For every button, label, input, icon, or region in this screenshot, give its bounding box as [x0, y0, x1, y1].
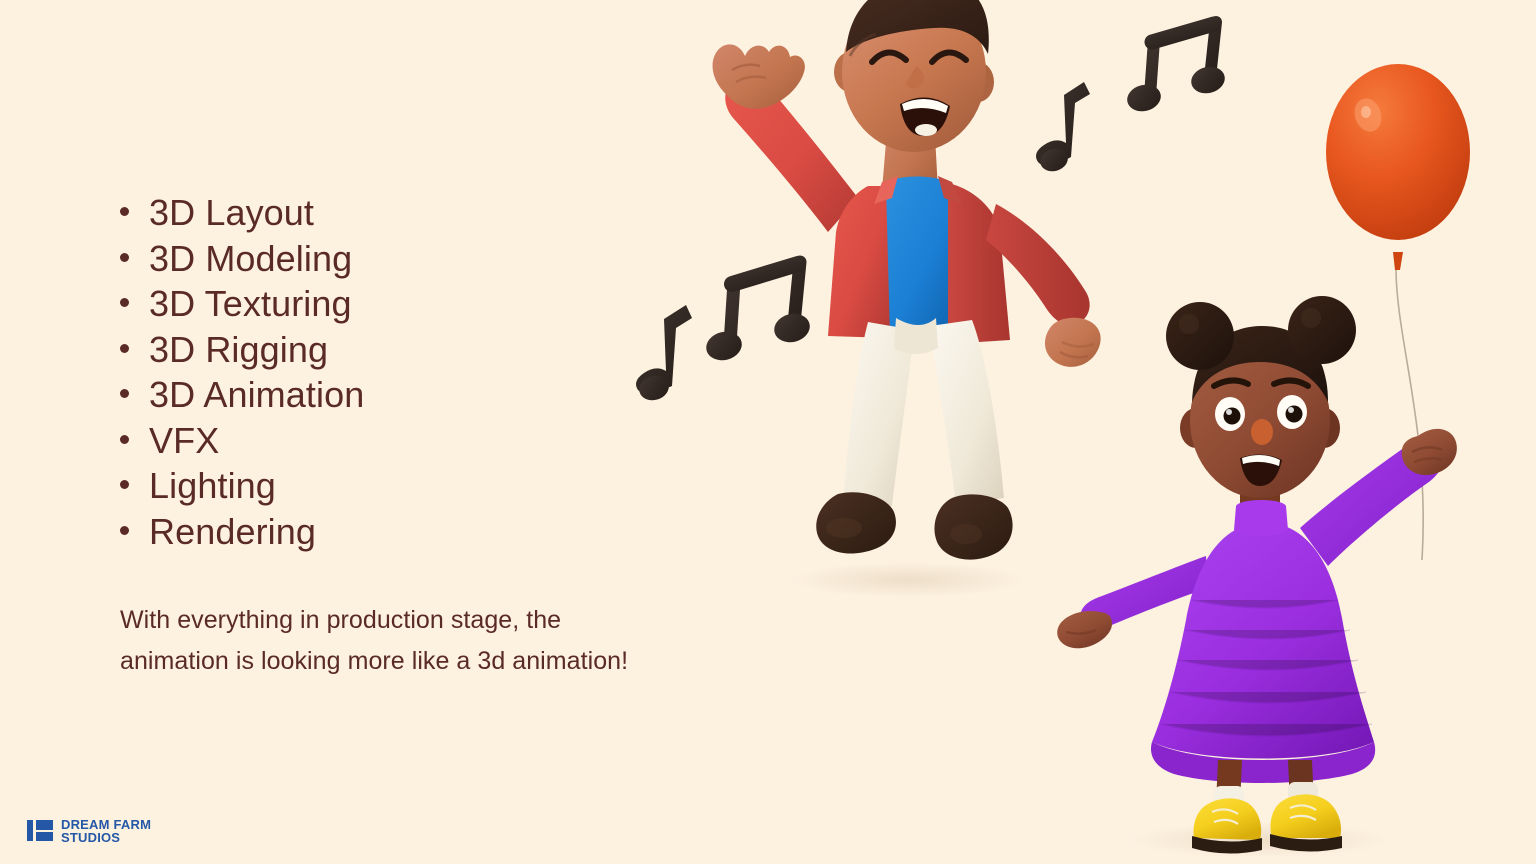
logo-blocks-shape	[36, 820, 54, 841]
logo-bar-shape	[27, 820, 33, 841]
service-label: Rendering	[149, 509, 316, 555]
logo-block-bottom	[36, 832, 54, 841]
bullet-icon	[120, 253, 129, 262]
bullet-icon	[120, 344, 129, 353]
bullet-icon	[120, 526, 129, 535]
music-note-icon	[703, 262, 813, 364]
music-note-icon	[1124, 22, 1227, 115]
service-label: 3D Texturing	[149, 281, 352, 327]
characters-illustration	[600, 0, 1536, 864]
music-note-icon	[636, 305, 692, 404]
slide-root: 3D Layout 3D Modeling 3D Texturing 3D Ri…	[0, 0, 1536, 864]
logo-mark-icon	[27, 820, 53, 841]
service-label: 3D Rigging	[149, 327, 328, 373]
service-label: 3D Layout	[149, 190, 314, 236]
girl-head	[1166, 296, 1356, 498]
brand-logo: DREAM FARM STUDIOS	[27, 818, 151, 845]
service-label: 3D Animation	[149, 372, 364, 418]
bullet-icon	[120, 480, 129, 489]
lowered-hand	[1045, 318, 1101, 367]
logo-block-top	[36, 820, 54, 829]
service-label: Lighting	[149, 463, 276, 509]
bullet-icon	[120, 298, 129, 307]
dancing-man-character	[713, 0, 1101, 598]
girl-with-balloon-character	[1057, 296, 1457, 858]
body-paragraph: With everything in production stage, the…	[120, 600, 675, 682]
bullet-icon	[120, 207, 129, 216]
service-label: 3D Modeling	[149, 236, 352, 282]
illustration-area	[600, 0, 1536, 864]
logo-wordmark: DREAM FARM STUDIOS	[61, 818, 151, 845]
music-note-icon	[1036, 82, 1090, 174]
logo-line-1: DREAM FARM	[61, 818, 151, 831]
left-hand	[1057, 611, 1112, 648]
bullet-icon	[120, 435, 129, 444]
balloon-holding-hand	[1402, 429, 1457, 475]
logo-line-2: STUDIOS	[61, 831, 151, 844]
bullet-icon	[120, 389, 129, 398]
service-label: VFX	[149, 418, 219, 464]
